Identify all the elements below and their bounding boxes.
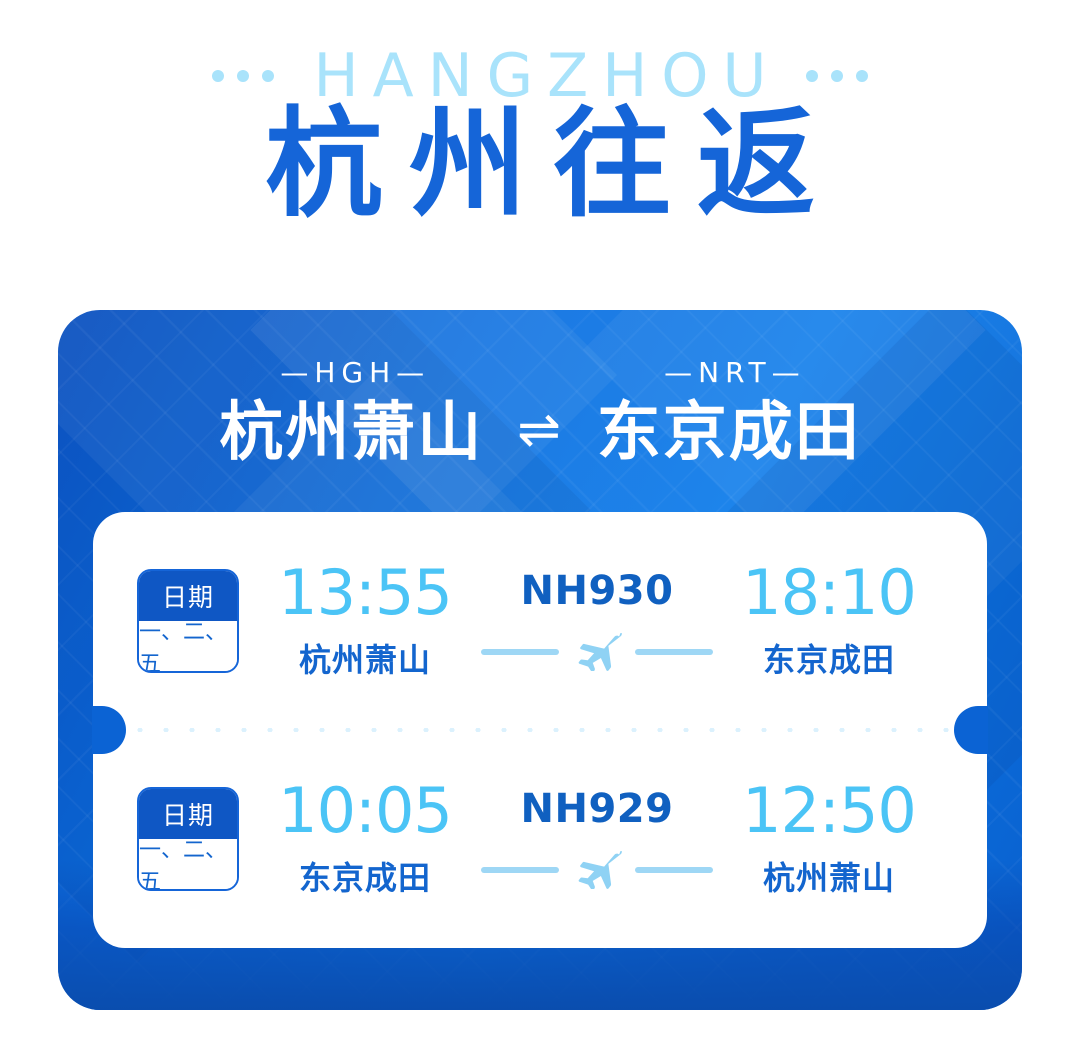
airplane-takeoff-icon <box>571 851 623 889</box>
hero-dots-right <box>806 70 868 82</box>
date-badge-days: 一、二、五 <box>139 839 237 889</box>
route-header: —HGH— —NRT— 杭州萧山 ⇌ 东京成田 <box>58 356 1022 471</box>
perforation-dots <box>127 728 953 732</box>
arrival-time: 18:10 <box>742 561 916 624</box>
origin-airport-name: 杭州萧山 <box>219 397 483 471</box>
flight-path <box>463 851 731 889</box>
date-badge: 日期 一、二、五 <box>137 569 239 673</box>
destination-airport-name: 东京成田 <box>597 397 861 471</box>
flight-middle-block: NH929 <box>463 789 731 890</box>
decor-dot-icon <box>856 70 868 82</box>
hero-dots-left <box>212 70 274 82</box>
arrival-block: 12:50 杭州萧山 <box>731 779 927 898</box>
flight-row[interactable]: 日期 一、二、五 10:05 东京成田 NH929 <box>93 730 987 948</box>
poster-root: HANGZHOU 杭州往返 —HGH— —NRT— <box>0 0 1080 1062</box>
flight-list-panel: 日期 一、二、五 13:55 杭州萧山 NH930 <box>93 512 987 948</box>
flight-number: NH930 <box>521 571 674 612</box>
date-badge: 日期 一、二、五 <box>137 787 239 891</box>
departure-block: 13:55 杭州萧山 <box>267 561 463 680</box>
hero-chinese-title: 杭州往返 <box>0 100 1080 230</box>
arrival-airport: 东京成田 <box>763 635 895 681</box>
path-line-left <box>481 867 559 873</box>
flight-path <box>463 633 731 671</box>
date-badge-days: 一、二、五 <box>139 621 237 671</box>
decor-dot-icon <box>212 70 224 82</box>
departure-airport: 杭州萧山 <box>299 635 431 681</box>
departure-airport: 东京成田 <box>299 853 431 899</box>
airplane-takeoff-icon <box>571 633 623 671</box>
origin-airport-code: —HGH— <box>274 356 430 389</box>
departure-time: 13:55 <box>278 561 452 624</box>
route-airport-codes: —HGH— —NRT— <box>58 356 1022 389</box>
arrival-block: 18:10 东京成田 <box>731 561 927 680</box>
destination-airport-code: —NRT— <box>658 356 805 389</box>
departure-block: 10:05 东京成田 <box>267 779 463 898</box>
path-line-right <box>635 867 713 873</box>
path-line-left <box>481 649 559 655</box>
decor-dot-icon <box>237 70 249 82</box>
hero-section: HANGZHOU 杭州往返 <box>0 0 1080 300</box>
flight-number: NH929 <box>521 789 674 830</box>
arrival-airport: 杭州萧山 <box>763 853 895 899</box>
departure-time: 10:05 <box>278 779 452 842</box>
decor-dot-icon <box>806 70 818 82</box>
route-airport-names: 杭州萧山 ⇌ 东京成田 <box>58 397 1022 471</box>
path-line-right <box>635 649 713 655</box>
flight-row[interactable]: 日期 一、二、五 13:55 杭州萧山 NH930 <box>93 512 987 730</box>
flight-ticket-card: —HGH— —NRT— 杭州萧山 ⇌ 东京成田 日期 一、二、五 13:55 杭… <box>58 310 1022 1010</box>
decor-dot-icon <box>831 70 843 82</box>
swap-arrows-icon: ⇌ <box>517 404 563 456</box>
decor-dot-icon <box>262 70 274 82</box>
arrival-time: 12:50 <box>742 779 916 842</box>
flight-middle-block: NH930 <box>463 571 731 672</box>
